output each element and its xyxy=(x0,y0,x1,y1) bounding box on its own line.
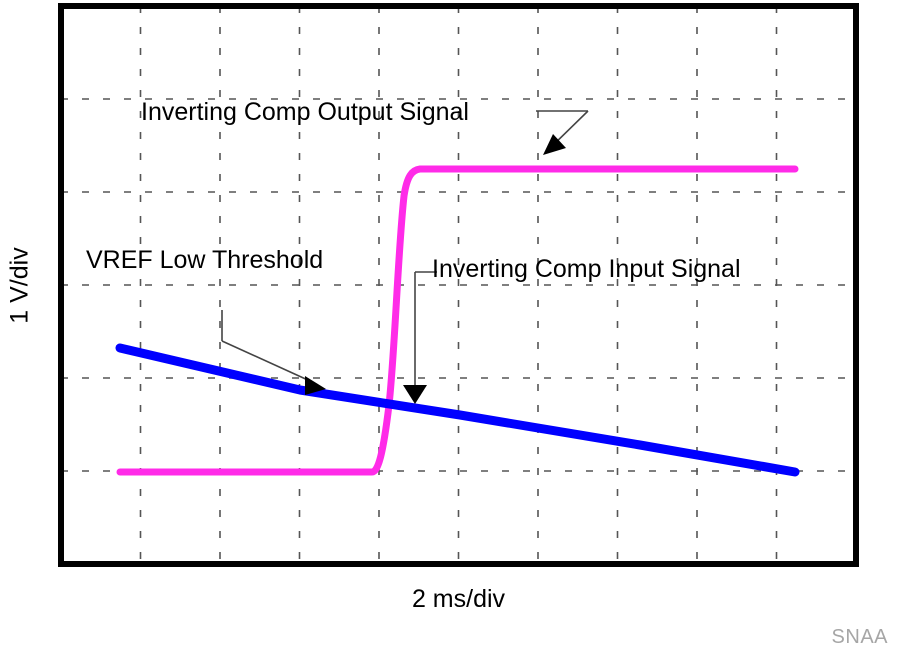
x-axis-label: 2 ms/div xyxy=(61,585,856,614)
annotation-label-vref-threshold: VREF Low Threshold xyxy=(86,246,323,275)
oscilloscope-figure: Inverting Comp Output Signal VREF Low Th… xyxy=(0,0,902,657)
y-axis-label-text: 1 V/div xyxy=(6,247,35,323)
watermark-text: SNAA xyxy=(832,626,888,649)
y-axis-label: 1 V/div xyxy=(0,200,40,370)
annotation-label-output-signal: Inverting Comp Output Signal xyxy=(141,98,469,127)
annotation-label-input-signal: Inverting Comp Input Signal xyxy=(432,255,741,284)
